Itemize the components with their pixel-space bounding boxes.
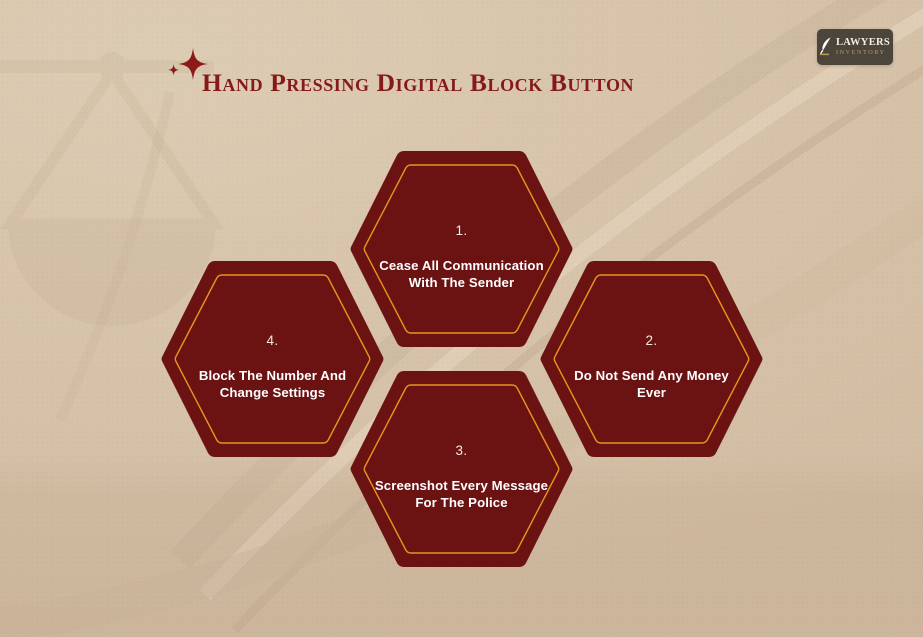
page-title: Hand Pressing Digital Block Button bbox=[202, 68, 634, 98]
step-label: Block The Number And Change Settings bbox=[183, 367, 362, 402]
quill-icon bbox=[820, 36, 832, 56]
step-content: 2. Do Not Send Any Money Ever bbox=[562, 333, 741, 402]
step-number: 1. bbox=[455, 223, 467, 238]
step-content: 3. Screenshot Every Message For The Poli… bbox=[372, 443, 551, 512]
step-label: Do Not Send Any Money Ever bbox=[562, 367, 741, 402]
step-hexagon-4[interactable]: 4. Block The Number And Change Settings bbox=[158, 259, 387, 459]
brand-logo[interactable]: LAWYERS INVENTORY bbox=[817, 29, 893, 65]
step-content: 4. Block The Number And Change Settings bbox=[183, 333, 362, 402]
brand-name: LAWYERS bbox=[836, 38, 890, 49]
step-label: Screenshot Every Message For The Police bbox=[372, 477, 551, 512]
brand-logo-text: LAWYERS INVENTORY bbox=[836, 38, 890, 57]
step-number: 3. bbox=[455, 443, 467, 458]
infographic-canvas: Hand Pressing Digital Block Button LAWYE… bbox=[0, 0, 923, 637]
step-label: Cease All Communication With The Sender bbox=[372, 257, 551, 292]
step-number: 2. bbox=[645, 333, 657, 348]
brand-tagline: INVENTORY bbox=[836, 50, 890, 56]
step-content: 1. Cease All Communication With The Send… bbox=[372, 223, 551, 292]
step-number: 4. bbox=[266, 333, 278, 348]
